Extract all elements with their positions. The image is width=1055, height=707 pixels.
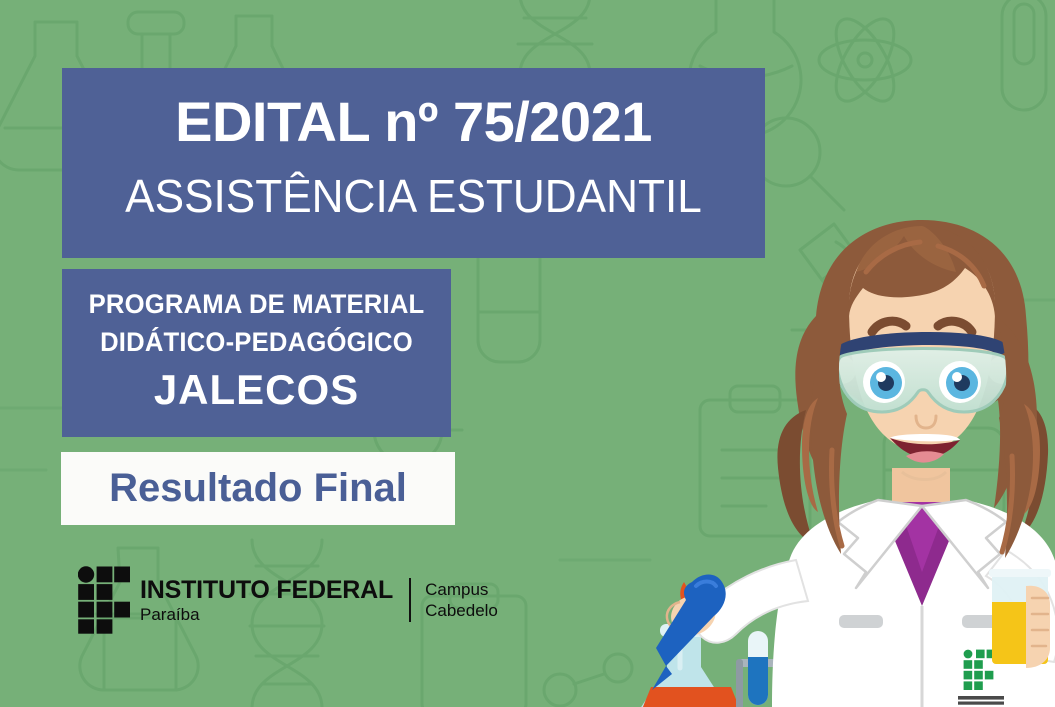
title-panel: EDITAL nº 75/2021 ASSISTÊNCIA ESTUDANTIL — [62, 68, 765, 258]
assistencia-subheading: ASSISTÊNCIA ESTUDANTIL — [76, 173, 751, 219]
logo-state-text: Paraíba — [140, 606, 393, 623]
program-panel: PROGRAMA DE MATERIAL DIDÁTICO-PEDAGÓGICO… — [62, 269, 451, 437]
logo-divider — [409, 578, 411, 622]
instituto-federal-mark-icon — [78, 566, 130, 634]
logo-institute-text: INSTITUTO FEDERAL — [140, 578, 393, 603]
program-item-jalecos: JALECOS — [62, 369, 451, 411]
logo-wordmark: INSTITUTO FEDERAL Paraíba Campus Cabedel… — [140, 578, 498, 623]
scientist-illustration — [620, 220, 1055, 707]
edital-heading: EDITAL nº 75/2021 — [62, 94, 765, 150]
logo-campus-line-1: Campus — [425, 579, 498, 600]
result-status-box: Resultado Final — [61, 452, 455, 525]
poster-canvas: EDITAL nº 75/2021 ASSISTÊNCIA ESTUDANTIL… — [0, 0, 1055, 707]
institution-logo: INSTITUTO FEDERAL Paraíba Campus Cabedel… — [78, 562, 498, 638]
program-line-2: DIDÁTICO-PEDAGÓGICO — [72, 329, 442, 356]
program-line-1: PROGRAMA DE MATERIAL — [72, 291, 442, 318]
logo-campus-line-2: Cabedelo — [425, 600, 498, 621]
result-label: Resultado Final — [61, 468, 455, 508]
